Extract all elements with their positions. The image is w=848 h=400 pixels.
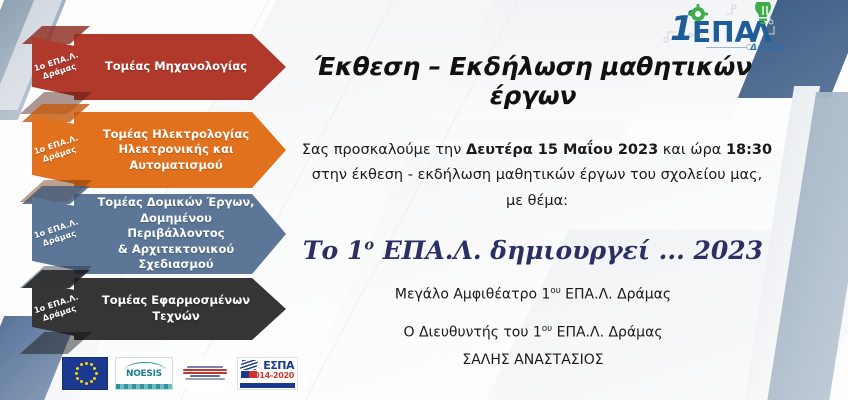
- sector-arrow-label: Τομέας Εφαρμοσμένων Τεχνών: [74, 293, 286, 324]
- poster-director-line: Ο Διευθυντής του 1ου ΕΠΑ.Λ. Δράμας: [283, 324, 783, 341]
- espa-wave-icon: [239, 360, 257, 370]
- invitation-text: Σας προσκαλούμε την Δευτέρα 15 Μαΐου 202…: [283, 138, 791, 214]
- sector-arrow-tail: 1ο ΕΠΑ.Λ.Δράμας: [22, 278, 82, 340]
- eu-star: [90, 363, 93, 366]
- sector-arrow[interactable]: Τομέας ΗλεκτρολογίαςΗλεκτρονικής καιΑυτο…: [0, 112, 300, 188]
- eu-star: [93, 367, 96, 370]
- sector-arrow-tail: 1ο ΕΠΑ.Λ.Δράμας: [22, 194, 82, 274]
- sector-arrow-label: Τομέας Μηχανολογίας: [87, 59, 273, 75]
- sector-arrow-body: Τομέας Μηχανολογίας: [74, 34, 286, 100]
- poster-content: Έκθεση – Εκδήλωση μαθητικών έργων Σας πρ…: [283, 0, 783, 400]
- eu-star: [93, 377, 96, 380]
- sector-arrow[interactable]: Τομέας Δομικών Έργων,Δομημένου Περιβάλλο…: [0, 194, 300, 274]
- venue-prefix: Μεγάλο Αμφιθέατρο 1: [395, 287, 551, 303]
- sector-arrow-label-line: Τομέας Δομικών Έργων,: [92, 195, 260, 211]
- director-prefix: Ο Διευθυντής του 1: [403, 325, 541, 341]
- op-line: [190, 375, 220, 377]
- eu-star: [85, 382, 88, 385]
- poster-title: Έκθεση – Εκδήλωση μαθητικών έργων: [283, 52, 783, 110]
- invitation-line1-a: Σας προσκαλούμε την: [302, 142, 466, 158]
- venue-suffix: ΕΠΑ.Λ. Δράμας: [561, 287, 671, 303]
- poster-theme-line: Το 1ο ΕΠΑ.Λ. δημιουργεί ... 2023: [283, 236, 783, 265]
- sector-arrow[interactable]: Τομέας Εφαρμοσμένων Τεχνών1ο ΕΠΑ.Λ.Δράμα…: [0, 278, 300, 340]
- poster-director-name: ΣΑΛΗΣ ΑΝΑΣΤΑΣΙΟΣ: [283, 352, 783, 368]
- sector-arrow-tail: 1ο ΕΠΑ.Λ.Δράμας: [22, 112, 82, 188]
- invitation-poster: Τομέας Μηχανολογίας1ο ΕΠΑ.Λ.ΔράμαςΤομέας…: [0, 0, 848, 400]
- sponsor-logo-row: NOESIS ΕΣΠΑ 2014-2020: [62, 354, 298, 392]
- sector-arrow-label-line: Τομέας Ηλεκτρολογίας: [103, 127, 250, 143]
- theme-ordinal-suffix: ο: [364, 237, 374, 254]
- sector-arrow-label-line: Αυτοματισμού: [103, 158, 250, 174]
- director-suffix: ΕΠΑ.Λ. Δράμας: [552, 325, 662, 341]
- svg-text:ΕΠΑ: ΕΠΑ: [692, 16, 757, 46]
- sector-arrow-label-line: Ηλεκτρονικής και: [103, 142, 250, 158]
- venue-ordinal-suffix: ου: [550, 286, 560, 296]
- sector-arrow-tail: 1ο ΕΠΑ.Λ.Δράμας: [22, 34, 82, 100]
- noesis-logo: NOESIS: [115, 357, 173, 390]
- eu-star: [75, 372, 78, 375]
- invitation-line-2: στην έκθεση - εκδήλωση μαθητικών έργων τ…: [283, 163, 791, 188]
- theme-prefix: Το 1: [303, 236, 364, 265]
- invitation-line1-b: και ώρα: [658, 142, 726, 158]
- school-logo-city: Δράμας: [750, 43, 786, 53]
- invitation-time: 18:30: [726, 142, 772, 158]
- operational-programme-logo: [180, 358, 230, 389]
- eu-star: [80, 380, 83, 383]
- sector-arrow-label: Τομέας Δομικών Έργων,Δομημένου Περιβάλλο…: [74, 195, 286, 273]
- eu-star: [90, 380, 93, 383]
- espa-logo: ΕΣΠΑ 2014-2020: [237, 357, 298, 390]
- school-logo: 1 ο ΕΠΑ Λ Δράμας: [662, 2, 790, 52]
- director-ordinal-suffix: ου: [542, 324, 552, 334]
- theme-suffix: ΕΠΑ.Λ. δημιουργεί ... 2023: [374, 236, 763, 265]
- op-line: [183, 372, 227, 374]
- eu-star: [76, 367, 79, 370]
- espa-years: 2014-2020: [249, 371, 294, 380]
- sector-arrow-body: Τομέας Δομικών Έργων,Δομημένου Περιβάλλο…: [74, 194, 286, 274]
- invitation-line-3: με θέμα:: [283, 189, 791, 214]
- op-line: [183, 369, 227, 371]
- invitation-line-1: Σας προσκαλούμε την Δευτέρα 15 Μαΐου 202…: [283, 138, 791, 163]
- logo-divider: [706, 47, 750, 48]
- sector-arrow-body: Τομέας Εφαρμοσμένων Τεχνών: [74, 278, 286, 340]
- op-line: [185, 378, 225, 379]
- invitation-date: Δευτέρα 15 Μαΐου 2023: [466, 142, 658, 158]
- espa-bar: [240, 383, 295, 388]
- poster-venue: Μεγάλο Αμφιθέατρο 1ου ΕΠΑ.Λ. Δράμας: [283, 286, 783, 303]
- sector-arrow-label: Τομέας ΗλεκτρολογίαςΗλεκτρονικής καιΑυτο…: [85, 127, 276, 174]
- eu-flag-icon: [62, 357, 108, 390]
- eu-star: [85, 362, 88, 365]
- school-logo-mark: 1 ο ΕΠΑ Λ: [662, 2, 790, 46]
- eu-star: [76, 377, 79, 380]
- eu-star: [80, 363, 83, 366]
- sector-arrow-body: Τομέας ΗλεκτρολογίαςΗλεκτρονικής καιΑυτο…: [74, 112, 286, 188]
- sector-arrow[interactable]: Τομέας Μηχανολογίας1ο ΕΠΑ.Λ.Δράμας: [0, 34, 300, 100]
- eu-star: [95, 372, 98, 375]
- sector-arrow-label-line: & Αρχιτεκτονικού Σχεδιασμού: [92, 242, 260, 273]
- noesis-logo-text: NOESIS: [116, 369, 172, 379]
- op-line: [187, 366, 223, 368]
- noesis-bar: [116, 384, 172, 389]
- sector-arrow-label-line: Δομημένου Περιβάλλοντος: [92, 211, 260, 242]
